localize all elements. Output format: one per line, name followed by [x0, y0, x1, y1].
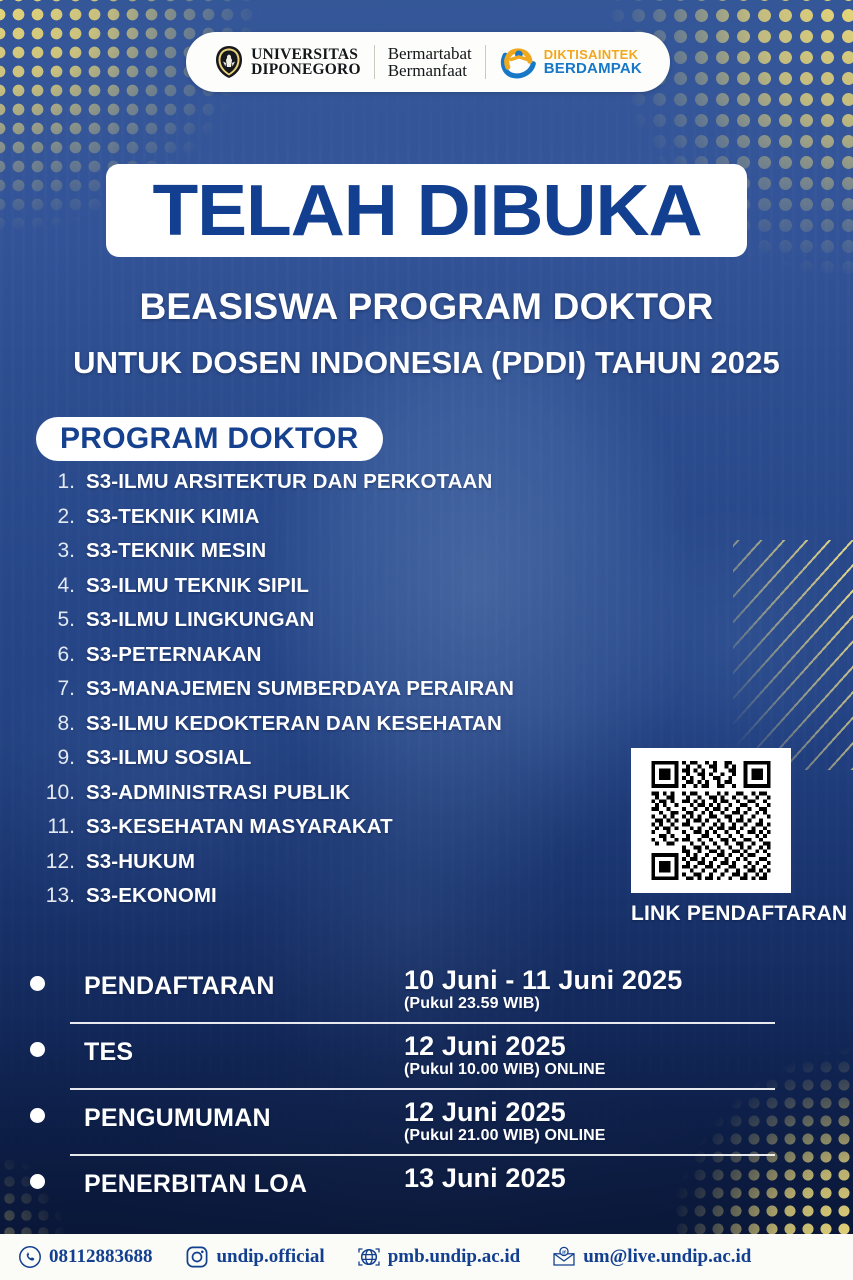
- logo-line-diponegoro: DIPONEGORO: [251, 62, 361, 78]
- footer-contact-text: um@live.undip.ac.id: [583, 1246, 751, 1268]
- motto-line-1: Bermartabat: [388, 45, 472, 62]
- program-doktor-heading-pill: PROGRAM DOKTOR: [36, 417, 383, 461]
- bullet-icon: [30, 1042, 45, 1057]
- subtitle-secondary: UNTUK DOSEN INDONESIA (PDDI) TAHUN 2025: [0, 345, 853, 381]
- subtitle-primary: BEASISWA PROGRAM DOKTOR: [0, 286, 853, 328]
- schedule-row: TES12 Juni 2025(Pukul 10.00 WIB) ONLINE: [0, 1024, 853, 1090]
- schedule-date: 10 Juni - 11 Juni 2025: [404, 965, 682, 995]
- program-item-number: 9.: [40, 746, 86, 770]
- page-title: TELAH DIBUKA: [152, 170, 701, 252]
- program-item-name: S3-ADMINISTRASI PUBLIK: [86, 781, 350, 805]
- diktisaintek-line-2: BERDAMPAK: [544, 61, 642, 76]
- schedule-stage-label: PENGUMUMAN: [84, 1096, 404, 1133]
- program-list: 1.S3-ILMU ARSITEKTUR DAN PERKOTAAN2.S3-T…: [40, 470, 640, 919]
- email-icon: @: [552, 1245, 576, 1269]
- program-list-item: 9.S3-ILMU SOSIAL: [40, 746, 640, 781]
- schedule-date: 13 Juni 2025: [404, 1163, 566, 1193]
- footer-contact-text: pmb.undip.ac.id: [388, 1246, 521, 1268]
- undip-seal-icon: [214, 45, 244, 79]
- program-list-item: 3.S3-TEKNIK MESIN: [40, 539, 640, 574]
- schedule-date-block: 12 Juni 2025(Pukul 10.00 WIB) ONLINE: [404, 1030, 606, 1079]
- program-list-item: 12.S3-HUKUM: [40, 850, 640, 885]
- motto-line-2: Bermanfaat: [388, 62, 472, 79]
- main-title-plate: TELAH DIBUKA: [106, 164, 747, 257]
- bullet-icon: [30, 1174, 45, 1189]
- program-item-number: 7.: [40, 677, 86, 701]
- program-item-number: 11.: [40, 815, 86, 839]
- logo-diktisaintek: DIKTISAINTEK BERDAMPAK: [486, 45, 655, 79]
- schedule-row: PENGUMUMAN12 Juni 2025(Pukul 21.00 WIB) …: [0, 1090, 853, 1156]
- program-list-item: 2.S3-TEKNIK KIMIA: [40, 505, 640, 540]
- program-item-name: S3-ILMU ARSITEKTUR DAN PERKOTAAN: [86, 470, 492, 494]
- globe-icon: [357, 1245, 381, 1269]
- program-list-item: 1.S3-ILMU ARSITEKTUR DAN PERKOTAAN: [40, 470, 640, 505]
- schedule-date-block: 10 Juni - 11 Juni 2025(Pukul 23.59 WIB): [404, 964, 682, 1013]
- footer-contact-text: undip.official: [216, 1246, 324, 1268]
- bullet-icon: [30, 976, 45, 991]
- program-list-item: 5.S3-ILMU LINGKUNGAN: [40, 608, 640, 643]
- program-list-item: 4.S3-ILMU TEKNIK SIPIL: [40, 574, 640, 609]
- bullet-icon: [30, 1108, 45, 1123]
- program-list-item: 7.S3-MANAJEMEN SUMBERDAYA PERAIRAN: [40, 677, 640, 712]
- logo-universitas-diponegoro: UNIVERSITAS DIPONEGORO: [201, 45, 374, 79]
- header-logo-bar: UNIVERSITAS DIPONEGORO Bermartabat Berma…: [186, 32, 670, 92]
- schedule-date: 12 Juni 2025: [404, 1031, 606, 1061]
- whatsapp-icon: [18, 1245, 42, 1269]
- schedule-row: PENDAFTARAN10 Juni - 11 Juni 2025(Pukul …: [0, 958, 853, 1024]
- schedule-time: (Pukul 23.59 WIB): [404, 995, 682, 1013]
- program-item-name: S3-HUKUM: [86, 850, 195, 874]
- schedule-stage-label: PENERBITAN LOA: [84, 1162, 404, 1199]
- logo-line-universitas: UNIVERSITAS: [251, 47, 361, 63]
- registration-qr-block[interactable]: LINK PENDAFTARAN: [631, 748, 847, 926]
- footer-contact-instagram[interactable]: undip.official: [185, 1245, 324, 1269]
- program-item-name: S3-ILMU LINGKUNGAN: [86, 608, 314, 632]
- qr-label: LINK PENDAFTARAN: [631, 902, 847, 926]
- program-list-item: 6.S3-PETERNAKAN: [40, 643, 640, 678]
- program-item-number: 6.: [40, 643, 86, 667]
- poster-root: UNIVERSITAS DIPONEGORO Bermartabat Berma…: [0, 0, 853, 1280]
- schedule-time: (Pukul 21.00 WIB) ONLINE: [404, 1127, 606, 1145]
- program-item-name: S3-KESEHATAN MASYARAKAT: [86, 815, 393, 839]
- footer-contact-text: 08112883688: [49, 1246, 152, 1268]
- program-list-item: 10.S3-ADMINISTRASI PUBLIK: [40, 781, 640, 816]
- program-item-number: 2.: [40, 505, 86, 529]
- program-list-item: 11.S3-KESEHATAN MASYARAKAT: [40, 815, 640, 850]
- diktisaintek-swoosh-icon: [499, 45, 537, 79]
- program-item-number: 10.: [40, 781, 86, 805]
- program-item-name: S3-ILMU TEKNIK SIPIL: [86, 574, 309, 598]
- footer-contact-globe[interactable]: pmb.undip.ac.id: [357, 1245, 521, 1269]
- program-item-number: 12.: [40, 850, 86, 874]
- schedule-stage-label: PENDAFTARAN: [84, 964, 404, 1001]
- program-item-number: 4.: [40, 574, 86, 598]
- program-item-number: 3.: [40, 539, 86, 563]
- footer-contact-whatsapp[interactable]: 08112883688: [18, 1245, 152, 1269]
- qr-code[interactable]: [631, 748, 791, 893]
- program-item-name: S3-TEKNIK KIMIA: [86, 505, 259, 529]
- program-item-name: S3-PETERNAKAN: [86, 643, 262, 667]
- program-item-name: S3-ILMU SOSIAL: [86, 746, 251, 770]
- program-item-name: S3-EKONOMI: [86, 884, 217, 908]
- schedule-date-block: 13 Juni 2025: [404, 1162, 566, 1193]
- program-item-number: 1.: [40, 470, 86, 494]
- footer-contact-email[interactable]: @um@live.undip.ac.id: [552, 1245, 751, 1269]
- schedule-time: (Pukul 10.00 WIB) ONLINE: [404, 1061, 606, 1079]
- schedule-date: 12 Juni 2025: [404, 1097, 606, 1127]
- program-list-item: 8.S3-ILMU KEDOKTERAN DAN KESEHATAN: [40, 712, 640, 747]
- program-item-name: S3-ILMU KEDOKTERAN DAN KESEHATAN: [86, 712, 502, 736]
- logo-motto: Bermartabat Bermanfaat: [375, 45, 485, 80]
- footer-contact-bar: 08112883688undip.officialpmb.undip.ac.id…: [0, 1234, 853, 1280]
- program-item-name: S3-TEKNIK MESIN: [86, 539, 266, 563]
- instagram-icon: [185, 1245, 209, 1269]
- schedule-stage-label: TES: [84, 1030, 404, 1067]
- program-item-name: S3-MANAJEMEN SUMBERDAYA PERAIRAN: [86, 677, 514, 701]
- program-doktor-heading-label: PROGRAM DOKTOR: [60, 422, 359, 456]
- schedule-list: PENDAFTARAN10 Juni - 11 Juni 2025(Pukul …: [0, 958, 853, 1222]
- schedule-row: PENERBITAN LOA13 Juni 2025: [0, 1156, 853, 1222]
- svg-text:@: @: [562, 1250, 567, 1255]
- schedule-date-block: 12 Juni 2025(Pukul 21.00 WIB) ONLINE: [404, 1096, 606, 1145]
- program-list-item: 13.S3-EKONOMI: [40, 884, 640, 919]
- program-item-number: 13.: [40, 884, 86, 908]
- program-item-number: 8.: [40, 712, 86, 736]
- program-item-number: 5.: [40, 608, 86, 632]
